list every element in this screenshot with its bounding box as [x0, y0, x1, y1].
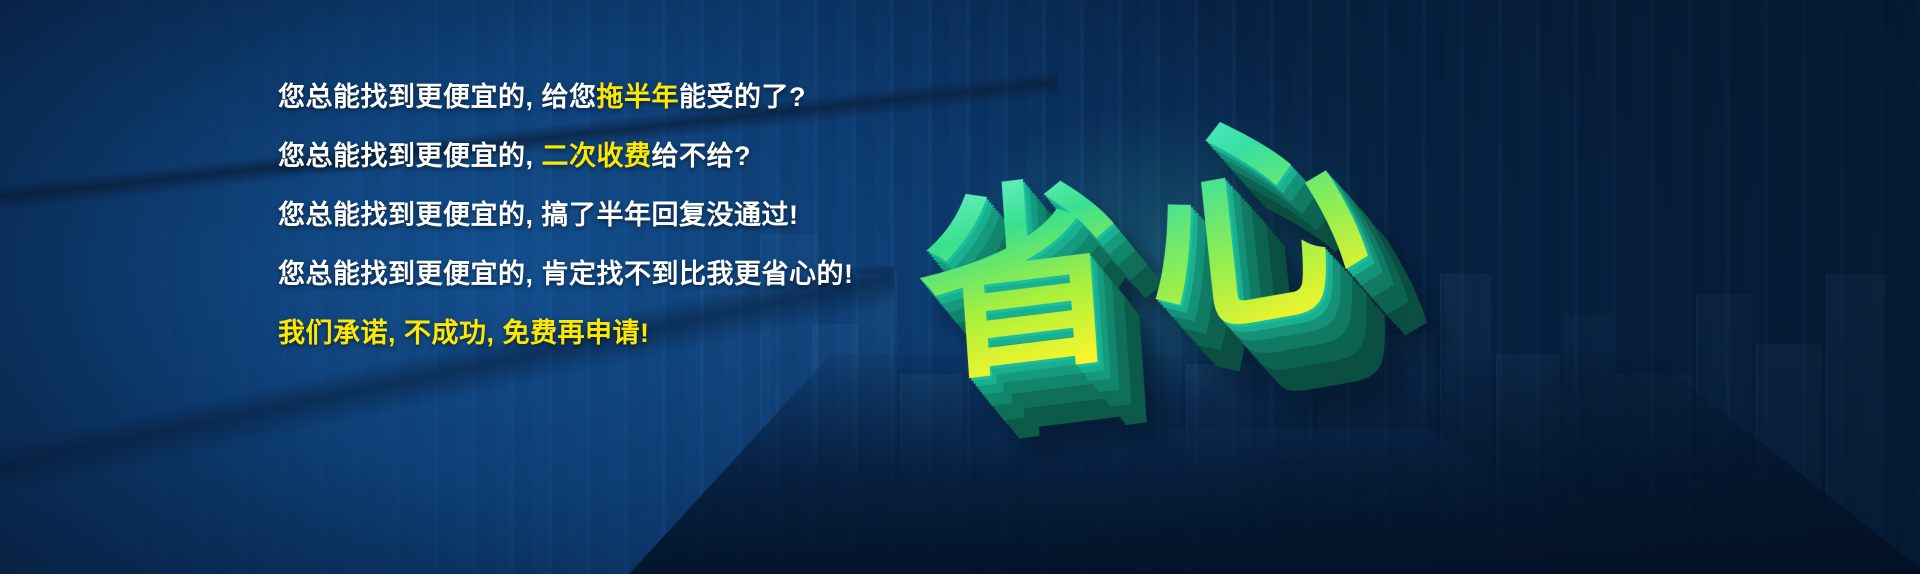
- copy-line-4: 您总能找到更便宜的, 肯定找不到比我更省心的!: [278, 261, 918, 288]
- marketing-copy-block: 您总能找到更便宜的, 给您拖半年能受的了? 您总能找到更便宜的, 二次收费给不给…: [278, 84, 918, 347]
- sheng-xin-wordmark: 省 心: [905, 62, 1425, 392]
- copy-line-1-suffix: 能受的了?: [679, 82, 806, 112]
- copy-line-2-suffix: 给不给?: [652, 141, 752, 171]
- copy-line-1: 您总能找到更便宜的, 给您拖半年能受的了?: [278, 84, 918, 111]
- copy-line-5-text: 我们承诺, 不成功, 免费再申请!: [278, 318, 650, 348]
- copy-line-1-prefix: 您总能找到更便宜的, 给您: [278, 82, 597, 112]
- copy-line-3: 您总能找到更便宜的, 搞了半年回复没通过!: [278, 202, 918, 229]
- copy-line-4-text: 您总能找到更便宜的, 肯定找不到比我更省心的!: [278, 259, 854, 289]
- copy-line-2-highlight: 二次收费: [542, 141, 652, 171]
- copy-line-5-promise: 我们承诺, 不成功, 免费再申请!: [278, 320, 918, 347]
- glyph-sheng: 省: [913, 168, 1131, 398]
- copy-line-2: 您总能找到更便宜的, 二次收费给不给?: [278, 143, 918, 170]
- copy-line-1-highlight: 拖半年: [597, 82, 680, 112]
- copy-line-2-prefix: 您总能找到更便宜的,: [278, 141, 542, 171]
- copy-line-3-text: 您总能找到更便宜的, 搞了半年回复没通过!: [278, 200, 799, 230]
- promo-banner: 您总能找到更便宜的, 给您拖半年能受的了? 您总能找到更便宜的, 二次收费给不给…: [0, 0, 1920, 574]
- glyph-xin: 心: [1133, 95, 1378, 358]
